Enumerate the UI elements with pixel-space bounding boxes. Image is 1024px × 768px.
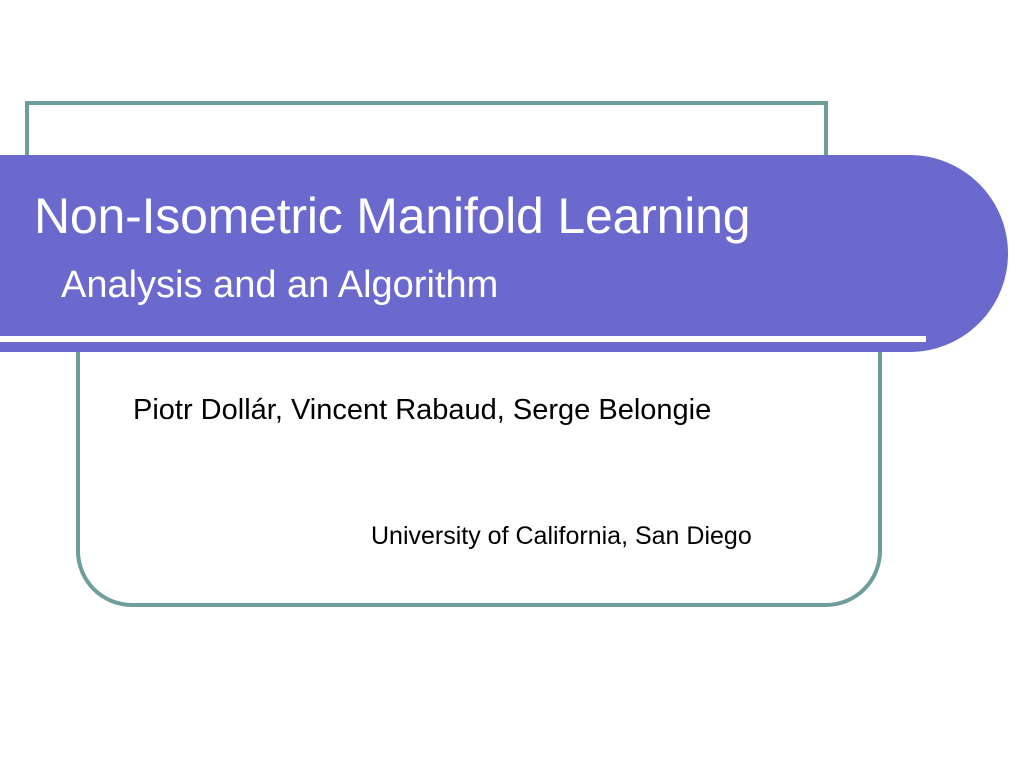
title-banner	[0, 155, 1008, 352]
author-list: Piotr Dollár, Vincent Rabaud, Serge Belo…	[133, 392, 711, 428]
slide-title: Non-Isometric Manifold Learning	[34, 187, 974, 245]
title-slide: Non-Isometric Manifold Learning Analysis…	[0, 0, 1024, 768]
decorative-frame-bottom	[76, 330, 882, 607]
slide-subtitle: Analysis and an Algorithm	[61, 262, 961, 308]
banner-divider-rule	[0, 336, 926, 342]
affiliation-text: University of California, San Diego	[371, 520, 752, 552]
